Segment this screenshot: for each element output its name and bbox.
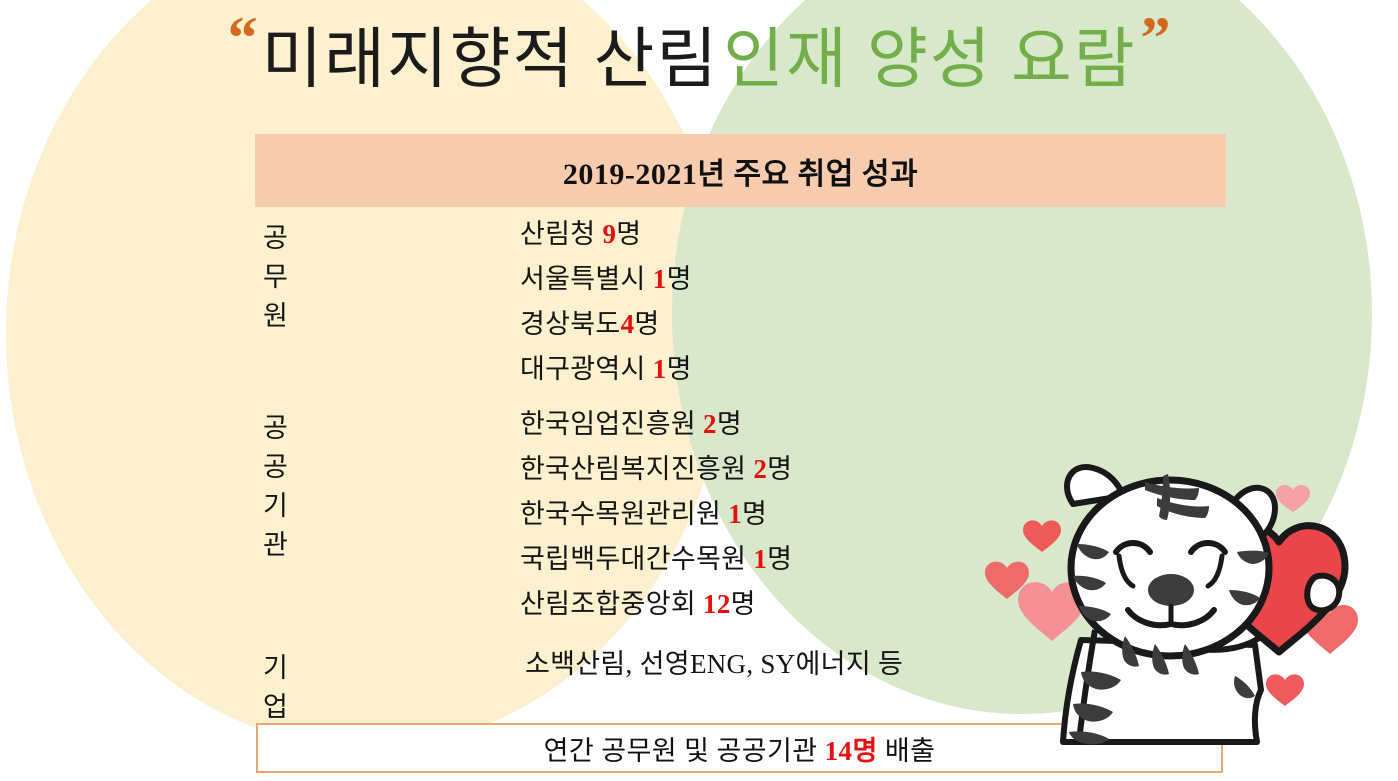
item-org: 한국산림복지진흥원 (520, 454, 746, 484)
item-unit: 명 (667, 264, 692, 294)
item-count: 2 (703, 409, 717, 439)
table-header-title: 2019-2021년 주요 취업 성과 (563, 149, 918, 193)
category-items-gongmuwon: 산림청 9명 서울특별시 1명 경상북도4명 대구광역시 1명 (520, 212, 692, 392)
title-part-dark: 미래지향적 산림 (262, 24, 720, 97)
category-items-gieop: 소백산림, 선영ENG, SY에너지 등 (525, 642, 903, 687)
item-unit: 명 (767, 454, 792, 484)
slide-title: “ 미래지향적 산림 인재 양성 요람 ” (0, 8, 1398, 94)
category-label-gonggong: 공공기관 (263, 406, 288, 562)
item-unit: 명 (634, 309, 659, 339)
item-count: 1 (753, 544, 767, 574)
table-header-bar: 2019-2021년 주요 취업 성과 (255, 134, 1226, 207)
item-count: 9 (602, 219, 616, 249)
item-unit: 명 (742, 499, 767, 529)
list-item: 산림조합중앙회 12명 (520, 582, 792, 627)
item-org: 대구광역시 (520, 354, 646, 384)
item-count: 1 (728, 499, 742, 529)
footer-prefix: 연간 공무원 및 공공기관 (544, 736, 825, 766)
item-unit: 명 (667, 354, 692, 384)
item-org: 산림청 (520, 219, 595, 249)
item-unit: 명 (616, 219, 641, 249)
achievements-table: 공무원 산림청 9명 서울특별시 1명 경상북도4명 대구광역시 1명 공공기관 (255, 212, 1226, 712)
list-item: 경상북도4명 (520, 302, 692, 347)
list-item: 한국수목원관리원 1명 (520, 492, 792, 537)
category-items-gonggong: 한국임업진흥원 2명 한국산림복지진흥원 2명 한국수목원관리원 1명 국립백두… (520, 402, 792, 627)
footer-highlight: 14명 (825, 736, 878, 766)
list-item: 국립백두대간수목원 1명 (520, 537, 792, 582)
list-item: 서울특별시 1명 (520, 257, 692, 302)
category-label-gongmuwon: 공무원 (263, 216, 288, 333)
item-count: 2 (753, 454, 767, 484)
item-count: 1 (653, 354, 667, 384)
heart-icon-small-bottom-right (1266, 674, 1304, 706)
list-item: 한국산림복지진흥원 2명 (520, 447, 792, 492)
item-org: 경상북도 (520, 309, 621, 339)
item-unit: 명 (767, 544, 792, 574)
summary-footer-bar: 연간 공무원 및 공공기관 14명 배출 (256, 723, 1223, 773)
list-item: 소백산림, 선영ENG, SY에너지 등 (525, 642, 903, 687)
item-org: 한국수목원관리원 (520, 499, 721, 529)
list-item: 산림청 9명 (520, 212, 692, 257)
list-item: 대구광역시 1명 (520, 347, 692, 392)
item-org: 서울특별시 (520, 264, 646, 294)
summary-footer-text: 연간 공무원 및 공공기관 14명 배출 (544, 729, 936, 768)
item-org: 국립백두대간수목원 (520, 544, 746, 574)
title-part-green: 인재 양성 요람 (723, 24, 1136, 97)
item-unit: 명 (717, 409, 742, 439)
list-item: 한국임업진흥원 2명 (520, 402, 792, 447)
tiger-paw-right (1307, 576, 1339, 611)
item-count: 4 (621, 309, 635, 339)
item-count: 1 (653, 264, 667, 294)
item-org: 산림조합중앙회 (520, 589, 696, 619)
open-quote-glyph: “ (228, 5, 258, 71)
heart-icon-medium-right (1302, 605, 1358, 654)
item-unit: 명 (731, 589, 756, 619)
close-quote-glyph: ” (1140, 5, 1170, 71)
item-org: 한국임업진흥원 (520, 409, 696, 439)
item-count: 12 (703, 589, 731, 619)
footer-suffix: 배출 (878, 736, 936, 766)
slide-canvas: “ 미래지향적 산림 인재 양성 요람 ” 2019-2021년 주요 취업 성… (0, 0, 1398, 781)
